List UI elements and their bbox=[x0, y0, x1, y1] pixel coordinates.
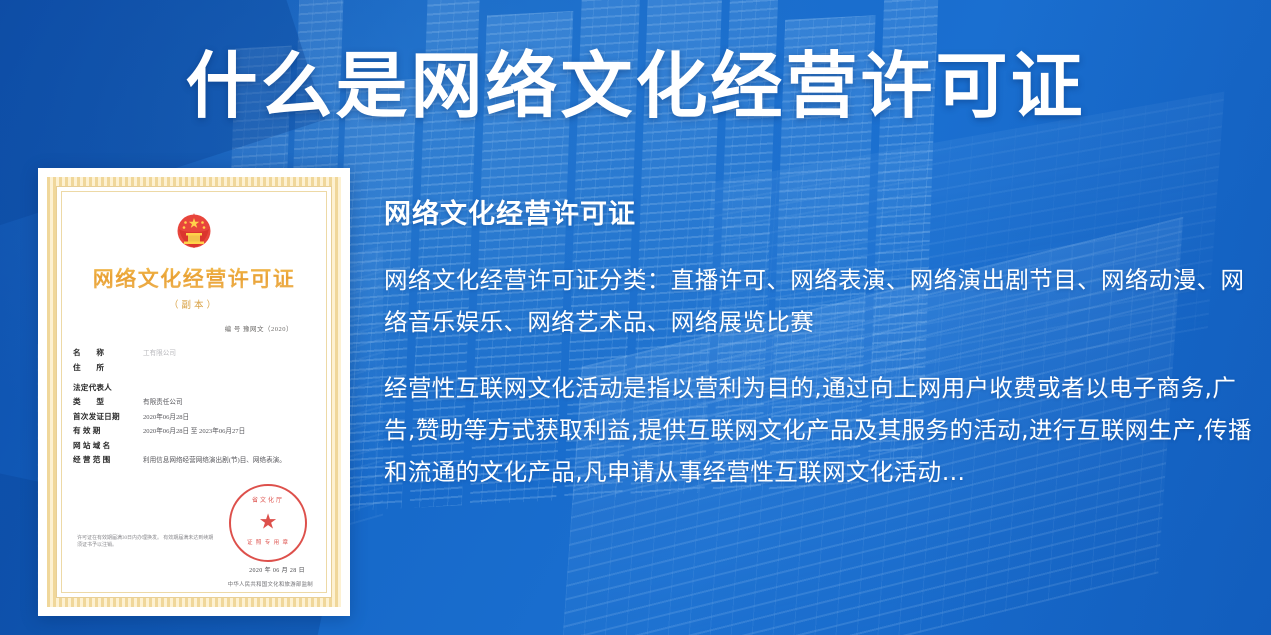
field-row: 类 型 有限责任公司 bbox=[73, 396, 315, 407]
certificate-serial: 编 号 豫网文（2020） bbox=[73, 323, 315, 333]
seal-arc-bottom: 证 照 专 用 章 bbox=[231, 538, 305, 546]
certificate-footer: 中华人民共和国文化和旅游部监制 bbox=[228, 580, 313, 588]
paragraph-definition: 经营性互联网文化活动是指以营利为目的,通过向上网用户收费或者以电子商务,广告,赞… bbox=[384, 367, 1258, 493]
field-row: 首次发证日期 2020年06月28日 bbox=[73, 411, 315, 422]
field-row: 法定代表人 bbox=[73, 382, 315, 393]
certificate-note: 许可证在有效期届满30日内办理换发。 有效期届满未达到续期须证书予以注销。 bbox=[77, 535, 217, 551]
paragraph-classification: 网络文化经营许可证分类：直播许可、网络表演、网络演出剧节目、网络动漫、网络音乐娱… bbox=[384, 259, 1258, 343]
field-row: 住 所 bbox=[73, 362, 315, 373]
certificate-inner: 网络文化经营许可证 （副本） 编 号 豫网文（2020） 名 称 工有限公司 住… bbox=[61, 191, 327, 593]
field-label: 首次发证日期 bbox=[73, 411, 137, 422]
page-title: 什么是网络文化经营许可证 bbox=[0, 49, 1271, 125]
certificate-border: 网络文化经营许可证 （副本） 编 号 豫网文（2020） 名 称 工有限公司 住… bbox=[47, 177, 341, 607]
field-row: 网 站 域 名 bbox=[73, 440, 315, 451]
field-value: 2020年06月28日 至 2023年06月27日 bbox=[137, 425, 245, 435]
field-label: 法定代表人 bbox=[73, 382, 137, 393]
seal-arc-top: 省文化厅 bbox=[231, 495, 305, 504]
certificate-bottom: 许可证在有效期届满30日内办理换发。 有效期届满未达到续期须证书予以注销。 省文… bbox=[73, 469, 315, 585]
field-value: 利用信息网络经营网络演出剧(节)目、网络表演。 bbox=[137, 454, 286, 464]
field-row: 经 营 范 围 利用信息网络经营网络演出剧(节)目、网络表演。 bbox=[73, 454, 315, 465]
poster-canvas: 什么是网络文化经营许可证 bbox=[0, 0, 1271, 635]
certificate-fields: 名 称 工有限公司 住 所 法定代表人 类 型 有限责任公司 bbox=[73, 347, 315, 469]
field-label: 网 站 域 名 bbox=[73, 440, 137, 451]
field-row: 名 称 工有限公司 bbox=[73, 347, 315, 358]
field-label: 名 称 bbox=[73, 347, 137, 358]
official-seal-icon: 省文化厅 ★ 证 照 专 用 章 bbox=[229, 484, 307, 562]
field-row: 有 效 期 2020年06月28日 至 2023年06月27日 bbox=[73, 425, 315, 436]
section-heading: 网络文化经营许可证 bbox=[384, 192, 1258, 231]
content-column: 网络文化经营许可证 网络文化经营许可证分类：直播许可、网络表演、网络演出剧节目、… bbox=[384, 192, 1258, 493]
field-label: 经 营 范 围 bbox=[73, 454, 137, 465]
field-value: 工有限公司 bbox=[137, 347, 176, 357]
field-label: 类 型 bbox=[73, 396, 137, 407]
field-value: 2020年06月28日 bbox=[137, 411, 189, 421]
certificate-image: 网络文化经营许可证 （副本） 编 号 豫网文（2020） 名 称 工有限公司 住… bbox=[38, 168, 350, 616]
field-label: 有 效 期 bbox=[73, 425, 137, 436]
seal-star-icon: ★ bbox=[259, 511, 278, 532]
field-value: 有限责任公司 bbox=[137, 396, 183, 406]
national-emblem-icon bbox=[169, 207, 219, 257]
certificate-title: 网络文化经营许可证 bbox=[73, 263, 315, 293]
field-label: 住 所 bbox=[73, 362, 137, 373]
certificate-subtitle: （副本） bbox=[73, 297, 315, 311]
certificate-issue-date: 2020 年 06 月 28 日 bbox=[249, 565, 305, 574]
